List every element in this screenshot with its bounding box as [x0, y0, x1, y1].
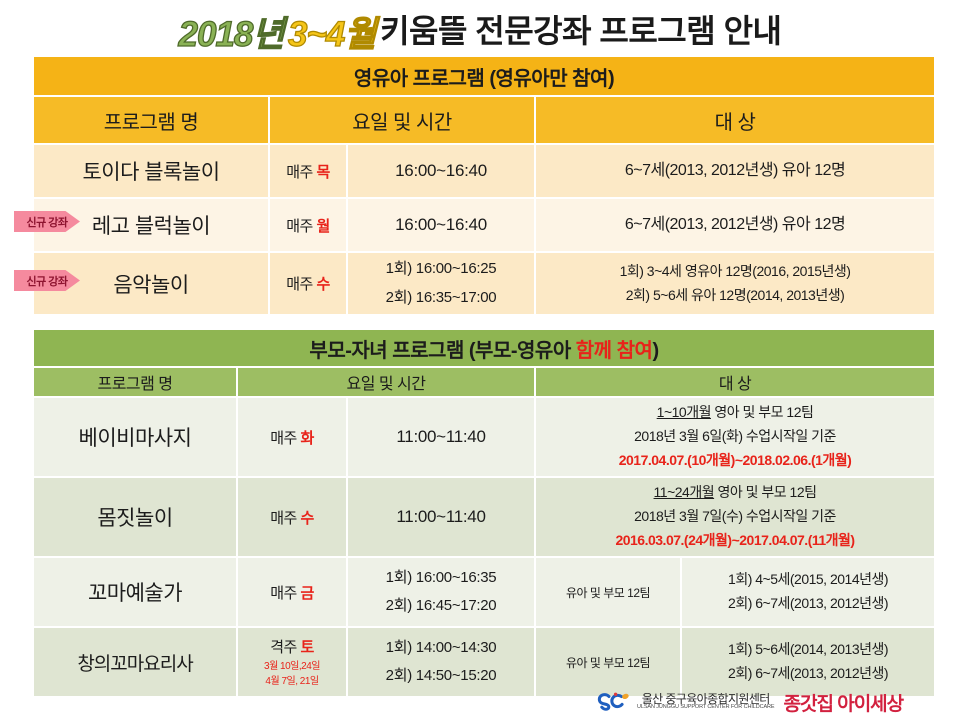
new-course-badge-label: 신규 강좌 [26, 214, 67, 230]
day-value: 화 [300, 430, 313, 447]
center-name-block: 울산 중구육아종합지원센터 ULSAN JUNGGU SUPPORT CENTE… [637, 693, 775, 711]
program-name: 창의꼬마요리사 [34, 628, 236, 696]
section-title-tail: ) [652, 340, 658, 362]
program-target-team: 유아 및 부모 12팀 [536, 628, 680, 696]
day-value: 월 [316, 218, 329, 235]
poster-page: 2018년 3~4월 키움뜰 전문강좌 프로그램 안내 영유아 프로그램 (영유… [0, 0, 960, 720]
program-day: 매주 수 [270, 253, 346, 314]
new-course-badge-label: 신규 강좌 [26, 273, 67, 289]
program-target-line: 2회) 6~7세(2013, 2012년생) [686, 592, 930, 616]
program-time: 16:00~16:40 [348, 145, 534, 197]
program-target-line: 1회) 4~5세(2015, 2014년생) [686, 568, 930, 592]
program-time-line: 2회) 16:35~17:00 [352, 284, 530, 313]
target-age-range: 11~24개월 [654, 484, 715, 500]
title-year: 2018년 [179, 15, 284, 54]
day-value: 토 [300, 639, 313, 656]
program-day: 매주 금 [238, 558, 346, 626]
parent-child-program-table: 부모-자녀 프로그램 (부모-영유아 함께 참여) 프로그램 명 요일 및 시간… [32, 328, 936, 698]
program-name: 꼬마예술가 [34, 558, 236, 626]
day-prefix: 매주 [270, 510, 297, 527]
column-header-target: 대 상 [536, 368, 934, 396]
table-section-header-row: 부모-자녀 프로그램 (부모-영유아 함께 참여) [34, 330, 934, 366]
program-target-birth-range: 2017.04.07.(10개월)~2018.02.06.(1개월) [540, 449, 930, 473]
table-row: 음악놀이 매주 수 1회) 16:00~16:25 2회) 16:35~17:0… [34, 253, 934, 314]
column-header-program-name: 프로그램 명 [34, 97, 268, 143]
table-row: 토이다 블록놀이 매주 목 16:00~16:40 6~7세(2013, 201… [34, 145, 934, 197]
program-target-team: 유아 및 부모 12팀 [536, 558, 680, 626]
center-name-en: ULSAN JUNGGU SUPPORT CENTER FOR CHILDCAR… [637, 705, 775, 711]
brand-wordmark: 종갓집 아이세상 [784, 689, 904, 716]
table-row: 몸짓놀이 매주 수 11:00~11:40 11~24개월 영아 및 부모 12… [34, 478, 934, 556]
program-time: 1회) 16:00~16:35 2회) 16:45~17:20 [348, 558, 534, 626]
program-time-line: 1회) 16:00~16:35 [352, 564, 530, 593]
table-header-row: 프로그램 명 요일 및 시간 대 상 [34, 97, 934, 143]
day-value: 수 [300, 510, 313, 527]
program-day: 매주 목 [270, 145, 346, 197]
program-name: 몸짓놀이 [34, 478, 236, 556]
parent-child-section-title: 부모-자녀 프로그램 (부모-영유아 함께 참여) [34, 330, 934, 366]
table-row: 레고 블럭놀이 매주 월 16:00~16:40 6~7세(2013, 2012… [34, 199, 934, 251]
day-prefix: 매주 [270, 430, 297, 447]
program-time-line: 1회) 16:00~16:25 [352, 255, 530, 284]
table-row: 베이비마사지 매주 화 11:00~11:40 1~10개월 영아 및 부모 1… [34, 398, 934, 476]
program-day: 매주 월 [270, 199, 346, 251]
column-header-day-time: 요일 및 시간 [270, 97, 534, 143]
table-header-row: 프로그램 명 요일 및 시간 대 상 [34, 368, 934, 396]
column-header-program-name: 프로그램 명 [34, 368, 236, 396]
section-title-plain: 부모-자녀 프로그램 (부모-영유아 [309, 340, 575, 362]
program-time-line: 1회) 14:00~14:30 [352, 634, 530, 663]
program-target-line: 2회) 6~7세(2013, 2012년생) [686, 662, 930, 686]
program-name: 베이비마사지 [34, 398, 236, 476]
section-title-highlight: 함께 참여 [576, 340, 653, 362]
day-subdate: 3월 10일,24일 [242, 659, 342, 674]
program-target-birth-range: 2016.03.07.(24개월)~2017.04.07.(11개월) [540, 529, 930, 553]
program-day: 격주 토 3월 10일,24일 4월 7일, 21일 [238, 628, 346, 696]
program-time-line: 2회) 16:45~17:20 [352, 592, 530, 621]
program-time-line: 2회) 14:50~15:20 [352, 662, 530, 691]
program-target-ages: 1회) 5~6세(2014, 2013년생) 2회) 6~7세(2013, 20… [682, 628, 934, 696]
day-value: 목 [316, 164, 329, 181]
infant-program-table: 영유아 프로그램 (영유아만 참여) 프로그램 명 요일 및 시간 대 상 토이… [32, 55, 936, 316]
target-team: 영아 및 부모 12팀 [714, 484, 816, 500]
title-month: 3~4월 [288, 15, 376, 54]
day-prefix: 매주 [286, 164, 313, 181]
program-target: 6~7세(2013, 2012년생) 유아 12명 [536, 199, 934, 251]
table-row: 창의꼬마요리사 격주 토 3월 10일,24일 4월 7일, 21일 1회) 1… [34, 628, 934, 696]
program-target-line: 2회) 5~6세 유아 12명(2014, 2013년생) [540, 284, 930, 308]
program-target-line: 1회) 3~4세 영유아 12명(2016, 2015년생) [540, 260, 930, 284]
program-time: 16:00~16:40 [348, 199, 534, 251]
page-title: 2018년 3~4월 키움뜰 전문강좌 프로그램 안내 [0, 6, 960, 57]
program-target-note: 2018년 3월 6일(화) 수업시작일 기준 [540, 425, 930, 449]
program-time: 11:00~11:40 [348, 398, 534, 476]
target-age-range: 1~10개월 [657, 404, 711, 420]
day-value: 금 [300, 585, 313, 602]
program-target-note: 2018년 3월 7일(수) 수업시작일 기준 [540, 505, 930, 529]
program-target: 6~7세(2013, 2012년생) 유아 12명 [536, 145, 934, 197]
column-header-target: 대 상 [536, 97, 934, 143]
footer: 울산 중구육아종합지원센터 ULSAN JUNGGU SUPPORT CENTE… [596, 688, 903, 716]
program-day: 매주 수 [238, 478, 346, 556]
day-prefix: 매주 [270, 585, 297, 602]
program-time: 11:00~11:40 [348, 478, 534, 556]
day-prefix: 매주 [286, 276, 313, 293]
sc-swirl-logo-icon [596, 691, 630, 713]
table-row: 꼬마예술가 매주 금 1회) 16:00~16:35 2회) 16:45~17:… [34, 558, 934, 626]
day-subdates: 3월 10일,24일 4월 7일, 21일 [242, 659, 342, 689]
target-team: 영아 및 부모 12팀 [711, 404, 813, 420]
column-header-day-time: 요일 및 시간 [238, 368, 534, 396]
program-target-line: 11~24개월 영아 및 부모 12팀 [540, 481, 930, 505]
program-target: 11~24개월 영아 및 부모 12팀 2018년 3월 7일(수) 수업시작일… [536, 478, 934, 556]
program-time: 1회) 14:00~14:30 2회) 14:50~15:20 [348, 628, 534, 696]
day-value: 수 [316, 276, 329, 293]
infant-section-title: 영유아 프로그램 (영유아만 참여) [34, 57, 934, 95]
table-section-header-row: 영유아 프로그램 (영유아만 참여) [34, 57, 934, 95]
program-target: 1회) 3~4세 영유아 12명(2016, 2015년생) 2회) 5~6세 … [536, 253, 934, 314]
program-day: 매주 화 [238, 398, 346, 476]
program-target: 1~10개월 영아 및 부모 12팀 2018년 3월 6일(화) 수업시작일 … [536, 398, 934, 476]
day-line: 격주 토 [242, 636, 342, 657]
program-time: 1회) 16:00~16:25 2회) 16:35~17:00 [348, 253, 534, 314]
program-name: 토이다 블록놀이 [34, 145, 268, 197]
day-prefix: 격주 [270, 639, 297, 656]
day-prefix: 매주 [286, 218, 313, 235]
program-target-ages: 1회) 4~5세(2015, 2014년생) 2회) 6~7세(2013, 20… [682, 558, 934, 626]
day-subdate: 4월 7일, 21일 [242, 674, 342, 689]
program-target-line: 1회) 5~6세(2014, 2013년생) [686, 638, 930, 662]
program-target-line: 1~10개월 영아 및 부모 12팀 [540, 401, 930, 425]
title-main: 키움뜰 전문강좌 프로그램 안내 [380, 13, 781, 49]
